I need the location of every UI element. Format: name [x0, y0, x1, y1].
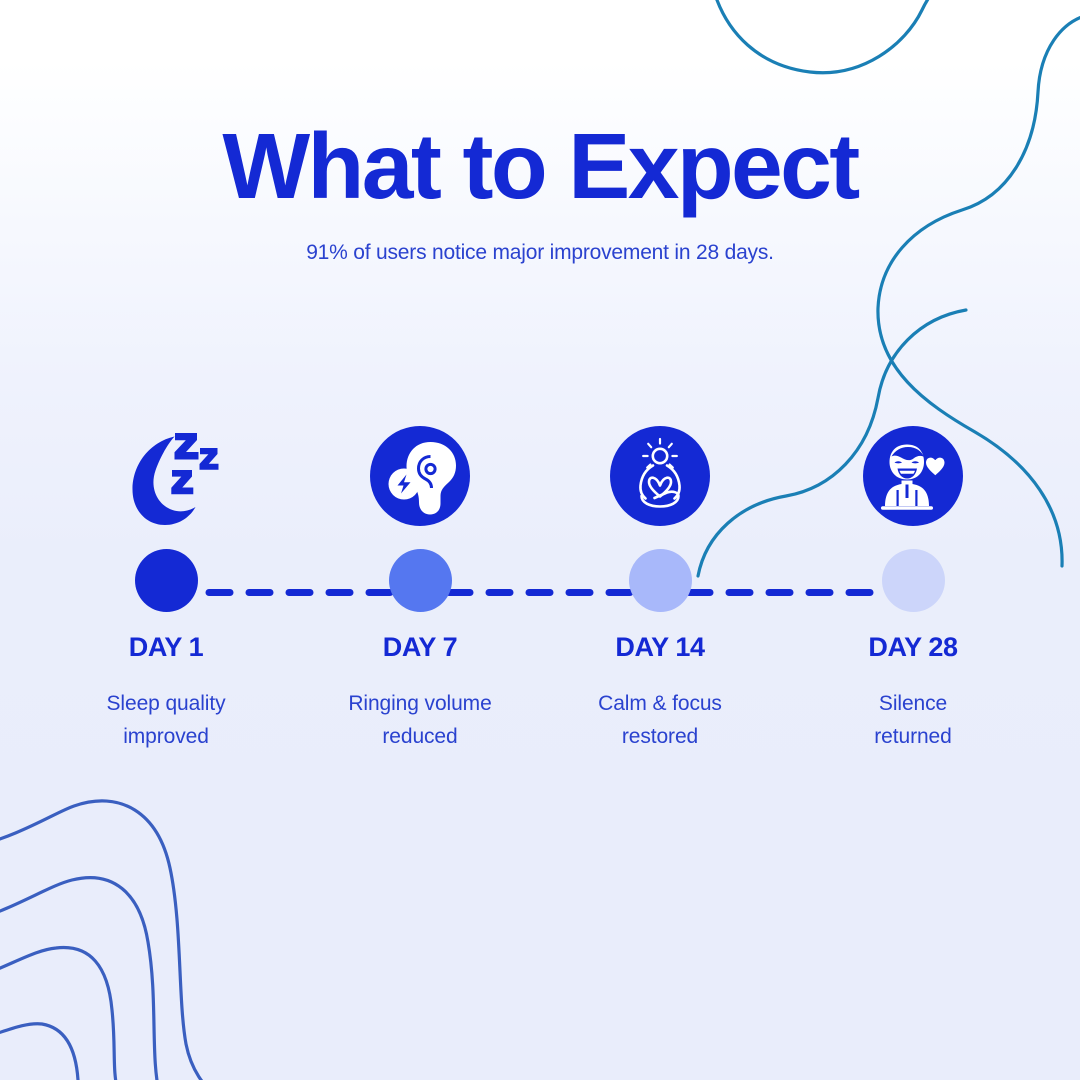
day-label: DAY 1	[51, 632, 281, 663]
timeline-dot-day-14	[545, 532, 775, 628]
step-description: Silence returned	[798, 688, 1028, 753]
meditation-heart-sun-icon	[545, 420, 775, 532]
timeline: DAY 1 Sleep quality improved	[0, 420, 1080, 820]
step-description-line-2: returned	[798, 721, 1028, 754]
timeline-dot-day-1	[51, 532, 281, 628]
timeline-dot-day-28	[798, 532, 1028, 628]
page-title: What to Expect	[0, 0, 1080, 213]
step-description: Sleep quality improved	[51, 688, 281, 753]
day-label: DAY 14	[545, 632, 775, 663]
step-description: Calm & focus restored	[545, 688, 775, 753]
ear-lightning-icon	[305, 420, 535, 532]
header: What to Expect 91% of users notice major…	[0, 0, 1080, 265]
infographic-canvas: What to Expect 91% of users notice major…	[0, 0, 1080, 1080]
step-description-line-2: improved	[51, 721, 281, 754]
timeline-step-day-7[interactable]: DAY 7 Ringing volume reduced	[305, 420, 535, 753]
day-label: DAY 28	[798, 632, 1028, 663]
moon-zzz-icon	[51, 420, 281, 532]
step-description-line-2: reduced	[305, 721, 535, 754]
step-description-line-1: Sleep quality	[107, 692, 226, 715]
step-description-line-1: Calm & focus	[598, 692, 722, 715]
step-description-line-2: restored	[545, 721, 775, 754]
step-description-line-1: Silence	[879, 692, 947, 715]
page-subtitle: 91% of users notice major improvement in…	[0, 213, 1080, 265]
step-description: Ringing volume reduced	[305, 688, 535, 753]
timeline-step-day-28[interactable]: DAY 28 Silence returned	[798, 420, 1028, 753]
timeline-step-day-14[interactable]: DAY 14 Calm & focus restored	[545, 420, 775, 753]
timeline-dot-day-7	[305, 532, 535, 628]
day-label: DAY 7	[305, 632, 535, 663]
step-description-line-1: Ringing volume	[348, 692, 491, 715]
timeline-step-day-1[interactable]: DAY 1 Sleep quality improved	[51, 420, 281, 753]
happy-person-heart-icon	[798, 420, 1028, 532]
